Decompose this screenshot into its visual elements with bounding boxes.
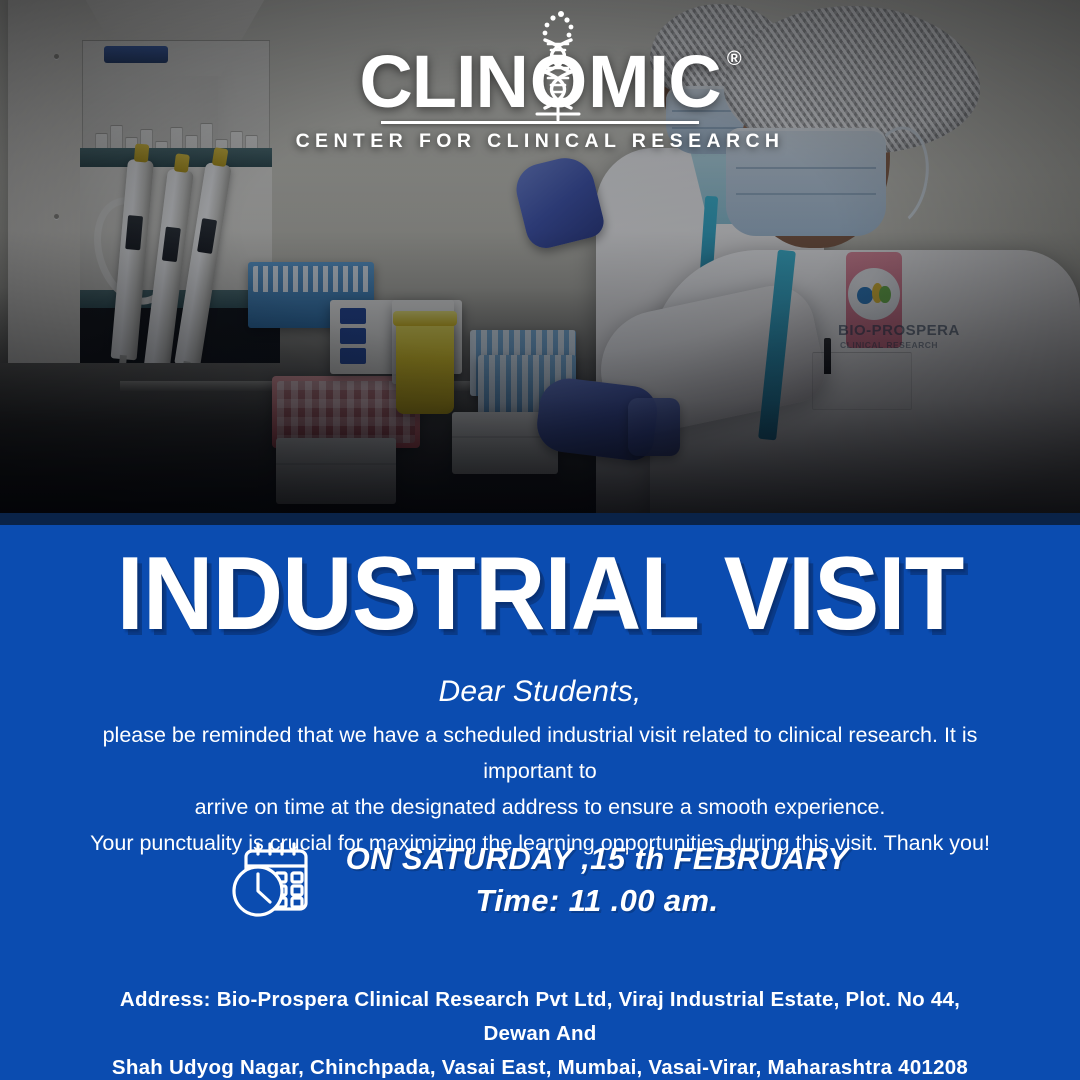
logo-o-letter: O [528, 46, 588, 117]
address-block: Address: Bio-Prospera Clinical Research … [95, 983, 985, 1080]
logo-word-part1: CLIN [359, 40, 528, 123]
content-panel: INDUSTRIAL VISIT Dear Students, please b… [0, 525, 1080, 1080]
logo-word-part2: MIC [588, 40, 721, 123]
header-photo: BIO-PROSPERA CLINICAL RESEARCH CLINO [0, 0, 1080, 513]
logo-wordmark: CLINO [359, 46, 720, 117]
brand-logo: CLINO [0, 46, 1080, 153]
address-line-2: Shah Udyog Nagar, Chinchpada, Vasai East… [95, 1051, 985, 1080]
calendar-clock-icon [232, 840, 324, 920]
schedule-block: ON SATURDAY ,15 th FEBRUARY Time: 11 .00… [0, 840, 1080, 926]
address-line-1: Address: Bio-Prospera Clinical Research … [95, 983, 985, 1051]
salutation: Dear Students, [0, 675, 1080, 709]
schedule-time: Time: 11 .00 am. [346, 883, 849, 919]
registered-trademark-icon: ® [727, 50, 741, 69]
body-line-1: please be reminded that we have a schedu… [60, 717, 1020, 789]
schedule-date: ON SATURDAY ,15 th FEBRUARY [346, 841, 849, 877]
schedule-text: ON SATURDAY ,15 th FEBRUARY Time: 11 .00… [346, 841, 849, 919]
poster-canvas: BIO-PROSPERA CLINICAL RESEARCH CLINO [0, 0, 1080, 1080]
navy-divider [0, 513, 1080, 525]
body-line-2: arrive on time at the designated address… [60, 789, 1020, 825]
page-title: INDUSTRIAL VISIT [32, 542, 1047, 646]
logo-tagline: CENTER FOR CLINICAL RESEARCH [0, 130, 1080, 153]
dna-helix-icon [531, 10, 585, 122]
